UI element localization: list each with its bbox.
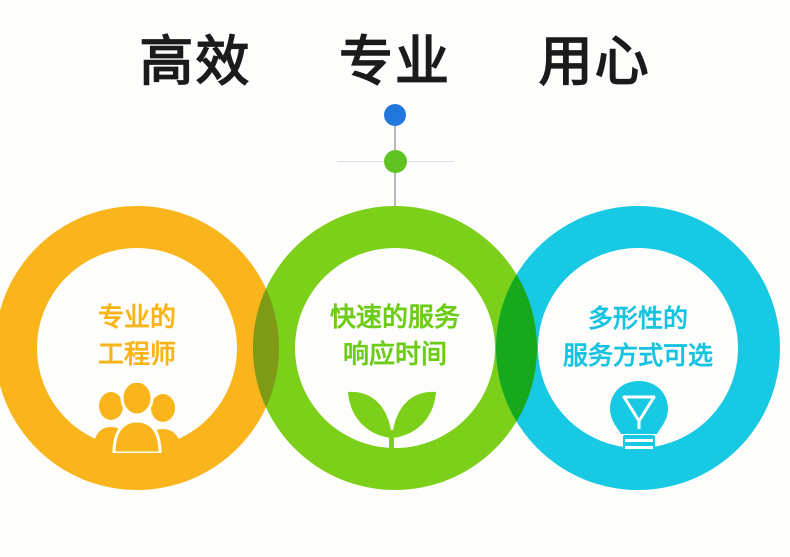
venn-diagram-rings — [0, 0, 790, 557]
infographic-canvas: 高效 专业 用心 — [0, 0, 790, 557]
overlap-green-cyan — [0, 0, 790, 557]
